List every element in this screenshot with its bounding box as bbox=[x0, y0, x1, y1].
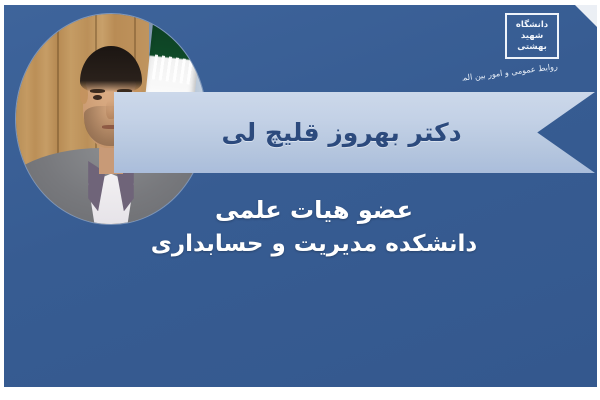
eyebrow-left bbox=[90, 89, 105, 93]
university-logo-tagline: روابط عمومی و امور بین الملل bbox=[462, 61, 559, 84]
eye-left bbox=[93, 95, 103, 100]
logo-line-3: بهشتی bbox=[517, 42, 547, 53]
university-logo-mark-text: دانشگاه شهید بهشتی bbox=[510, 18, 554, 54]
logo-line-1: دانشگاه bbox=[516, 20, 548, 31]
logo-line-2: شهید bbox=[521, 31, 543, 42]
university-logo-mark: دانشگاه شهید بهشتی bbox=[505, 13, 559, 59]
card-background-panel: دانشگاه شهید بهشتی روابط عمومی و امور بی… bbox=[4, 5, 597, 387]
department-title: دانشکده مدیریت و حسابداری bbox=[64, 227, 564, 261]
corner-bevel-decoration bbox=[575, 5, 597, 27]
title-block: عضو هیات علمی دانشکده مدیریت و حسابداری bbox=[64, 193, 564, 261]
profile-card: دانشگاه شهید بهشتی روابط عمومی و امور بی… bbox=[0, 0, 600, 400]
flag-script-band bbox=[152, 54, 195, 85]
position-title: عضو هیات علمی bbox=[64, 193, 564, 227]
university-logo: دانشگاه شهید بهشتی روابط عمومی و امور بی… bbox=[461, 11, 559, 87]
person-name: دکتر بهروز قلیچ لی bbox=[114, 92, 569, 173]
